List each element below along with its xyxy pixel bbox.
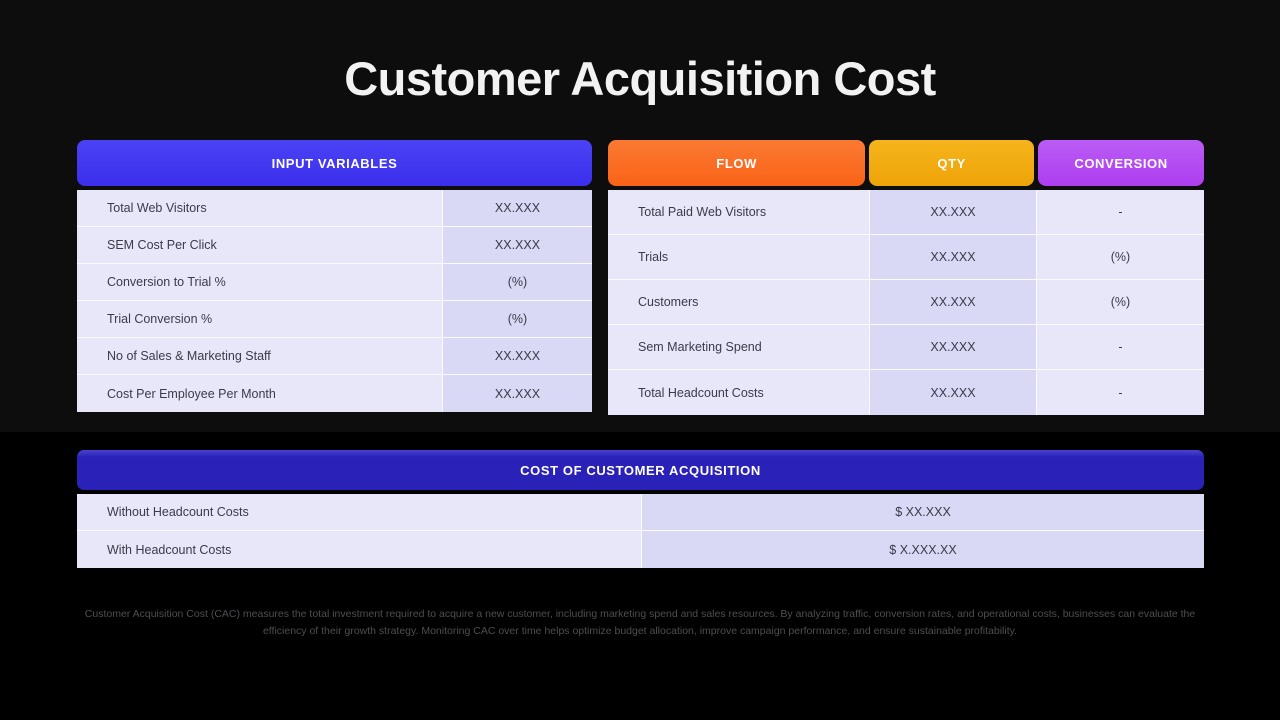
flow-row-qty[interactable]: XX.XXX: [869, 370, 1036, 415]
flow-row-qty[interactable]: XX.XXX: [869, 190, 1036, 235]
table-row[interactable]: Conversion to Trial % (%): [77, 264, 592, 301]
input-row-label: Total Web Visitors: [77, 190, 442, 227]
flow-row-conversion[interactable]: -: [1036, 190, 1204, 235]
table-row[interactable]: With Headcount Costs $ X.XXX.XX: [77, 531, 1204, 568]
flow-row-conversion[interactable]: -: [1036, 370, 1204, 415]
flow-row-conversion[interactable]: -: [1036, 325, 1204, 370]
cost-row-label: With Headcount Costs: [77, 531, 641, 568]
qty-column-header: QTY: [869, 140, 1034, 186]
input-row-label: SEM Cost Per Click: [77, 227, 442, 264]
input-variables-header: INPUT VARIABLES: [77, 140, 592, 186]
flow-row-label: Trials: [608, 235, 869, 280]
table-row[interactable]: No of Sales & Marketing Staff XX.XXX: [77, 338, 592, 375]
input-variables-body: Total Web Visitors XX.XXX SEM Cost Per C…: [77, 190, 592, 412]
input-row-value[interactable]: XX.XXX: [442, 375, 592, 412]
flow-row-qty[interactable]: XX.XXX: [869, 235, 1036, 280]
input-row-value[interactable]: XX.XXX: [442, 190, 592, 227]
table-row[interactable]: Trials XX.XXX (%): [608, 235, 1204, 280]
cost-row-value[interactable]: $ X.XXX.XX: [641, 531, 1204, 568]
table-row[interactable]: Without Headcount Costs $ XX.XXX: [77, 494, 1204, 531]
flow-row-qty[interactable]: XX.XXX: [869, 325, 1036, 370]
cost-table-header-row: COST OF CUSTOMER ACQUISITION: [77, 450, 1204, 490]
input-row-label: Conversion to Trial %: [77, 264, 442, 301]
cost-table-header: COST OF CUSTOMER ACQUISITION: [77, 450, 1204, 490]
slide-root: Customer Acquisition Cost INPUT VARIABLE…: [0, 0, 1280, 720]
cost-row-label: Without Headcount Costs: [77, 494, 641, 531]
input-row-label: No of Sales & Marketing Staff: [77, 338, 442, 375]
flow-column-header: FLOW: [608, 140, 865, 186]
input-row-value[interactable]: (%): [442, 264, 592, 301]
input-row-value[interactable]: (%): [442, 301, 592, 338]
input-row-value[interactable]: XX.XXX: [442, 227, 592, 264]
flow-row-label: Total Paid Web Visitors: [608, 190, 869, 235]
input-row-label: Cost Per Employee Per Month: [77, 375, 442, 412]
cost-row-value[interactable]: $ XX.XXX: [641, 494, 1204, 531]
flow-row-label: Total Headcount Costs: [608, 370, 869, 415]
table-row[interactable]: SEM Cost Per Click XX.XXX: [77, 227, 592, 264]
flow-row-label: Customers: [608, 280, 869, 325]
input-variables-table: INPUT VARIABLES Total Web Visitors XX.XX…: [77, 140, 592, 412]
page-title: Customer Acquisition Cost: [0, 48, 1280, 110]
footer-description: Customer Acquisition Cost (CAC) measures…: [80, 606, 1200, 640]
table-row[interactable]: Total Paid Web Visitors XX.XXX -: [608, 190, 1204, 235]
table-row[interactable]: Cost Per Employee Per Month XX.XXX: [77, 375, 592, 412]
table-row[interactable]: Trial Conversion % (%): [77, 301, 592, 338]
input-row-value[interactable]: XX.XXX: [442, 338, 592, 375]
cost-of-acquisition-table: COST OF CUSTOMER ACQUISITION Without Hea…: [77, 450, 1204, 568]
flow-row-qty[interactable]: XX.XXX: [869, 280, 1036, 325]
flow-table-body: Total Paid Web Visitors XX.XXX - Trials …: [608, 190, 1204, 415]
input-row-label: Trial Conversion %: [77, 301, 442, 338]
cost-table-body: Without Headcount Costs $ XX.XXX With He…: [77, 494, 1204, 568]
table-row[interactable]: Sem Marketing Spend XX.XXX -: [608, 325, 1204, 370]
flow-row-label: Sem Marketing Spend: [608, 325, 869, 370]
flow-row-conversion[interactable]: (%): [1036, 280, 1204, 325]
table-row[interactable]: Total Headcount Costs XX.XXX -: [608, 370, 1204, 415]
table-row[interactable]: Total Web Visitors XX.XXX: [77, 190, 592, 227]
conversion-column-header: CONVERSION: [1038, 140, 1204, 186]
flow-table-header-row: FLOW QTY CONVERSION: [608, 140, 1204, 186]
flow-table: FLOW QTY CONVERSION Total Paid Web Visit…: [608, 140, 1204, 415]
flow-row-conversion[interactable]: (%): [1036, 235, 1204, 280]
table-row[interactable]: Customers XX.XXX (%): [608, 280, 1204, 325]
input-variables-header-row: INPUT VARIABLES: [77, 140, 592, 186]
